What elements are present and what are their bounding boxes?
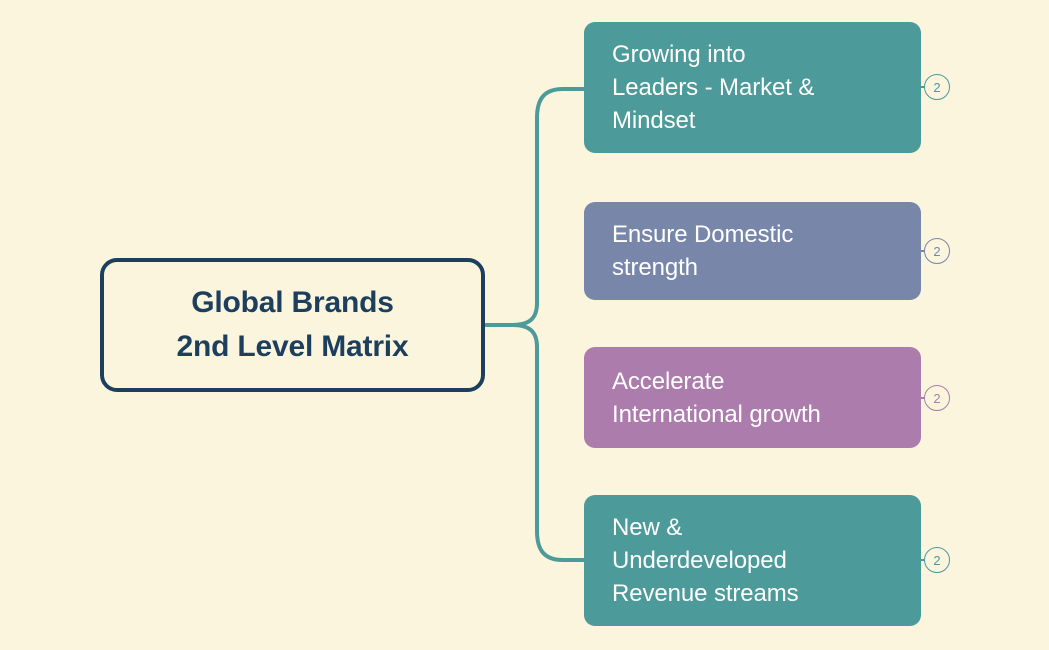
root-node[interactable]: Global Brands 2nd Level Matrix: [100, 258, 485, 392]
child-count-badge[interactable]: 2: [924, 238, 950, 264]
child-count-badge[interactable]: 2: [924, 385, 950, 411]
branch-node-growing-into-leaders[interactable]: Growing into Leaders - Market & Mindset: [584, 22, 921, 153]
child-count-badge-value: 2: [933, 244, 940, 259]
child-count-badge[interactable]: 2: [924, 547, 950, 573]
connector-lower-branch: [512, 325, 583, 560]
branch-node-new-underdeveloped-revenue-streams[interactable]: New & Underdeveloped Revenue streams: [584, 495, 921, 626]
branch-node-label: Growing into Leaders - Market & Mindset: [612, 38, 814, 137]
branch-node-label: New & Underdeveloped Revenue streams: [612, 511, 799, 610]
child-count-badge-value: 2: [933, 553, 940, 568]
connector-upper-branch: [512, 89, 583, 325]
branch-node-label: Accelerate International growth: [612, 365, 821, 431]
child-count-badge-value: 2: [933, 80, 940, 95]
root-node-title: Global Brands 2nd Level Matrix: [177, 281, 409, 369]
branch-node-accelerate-international-growth[interactable]: Accelerate International growth: [584, 347, 921, 448]
child-count-badge[interactable]: 2: [924, 74, 950, 100]
branch-node-ensure-domestic-strength[interactable]: Ensure Domestic strength: [584, 202, 921, 300]
mindmap-canvas: Global Brands 2nd Level Matrix Growing i…: [0, 0, 1049, 650]
child-count-badge-value: 2: [933, 391, 940, 406]
branch-node-label: Ensure Domestic strength: [612, 218, 793, 284]
